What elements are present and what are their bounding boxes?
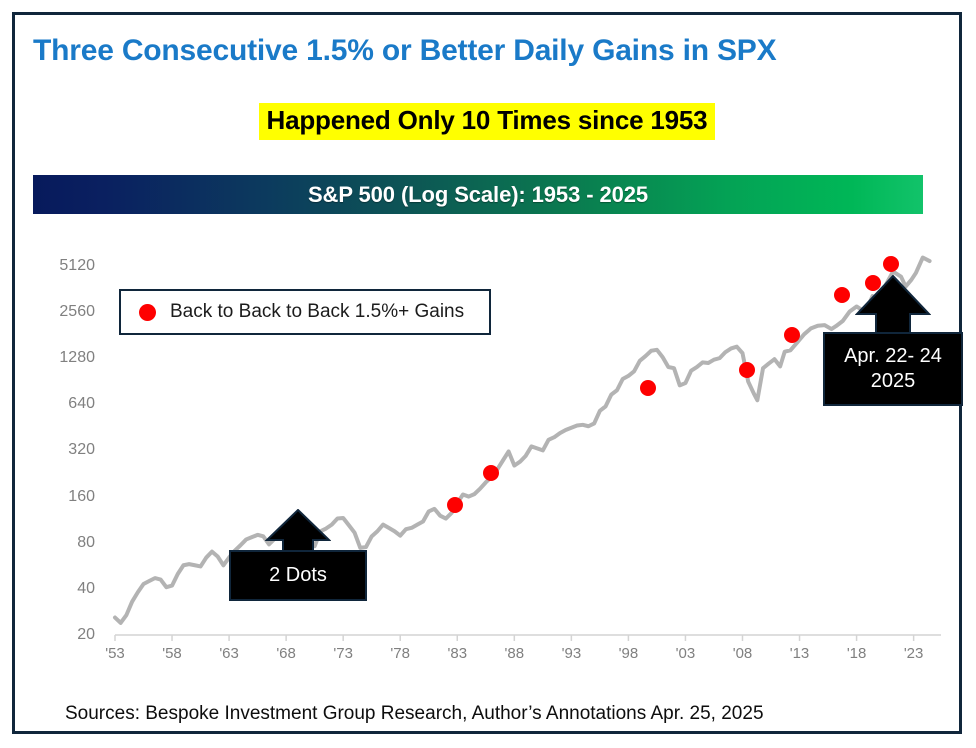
y-axis-tick-label: 640: [33, 395, 95, 413]
subtitle-highlight: Happened Only 10 Times since 1953: [259, 103, 716, 140]
highlight-point: [784, 327, 800, 343]
source-note: Sources: Bespoke Investment Group Resear…: [65, 703, 764, 725]
chart-banner-title: S&P 500 (Log Scale): 1953 - 2025: [33, 175, 923, 214]
y-axis-tick-label: 2560: [33, 303, 95, 321]
x-axis-tick-label: '03: [676, 645, 696, 662]
y-axis-tick-label: 160: [33, 488, 95, 506]
y-axis-tick-label: 1280: [33, 349, 95, 367]
x-axis-tick-label: '58: [162, 645, 182, 662]
callout-2-dots-box: 2 Dots: [229, 550, 367, 601]
callout-apr-2025-box: Apr. 22- 24 2025: [823, 332, 963, 406]
y-axis-tick-label: 20: [33, 626, 95, 644]
x-axis-tick-label: '63: [219, 645, 239, 662]
slide-container: Three Consecutive 1.5% or Better Daily G…: [12, 12, 962, 734]
highlight-point: [739, 362, 755, 378]
callout-apr-line2: 2025: [871, 369, 916, 394]
x-axis-tick-label: '18: [847, 645, 867, 662]
chart-axis-lines: [115, 635, 941, 641]
callout-apr-line1: Apr. 22- 24: [844, 344, 942, 369]
callout-2-dots: 2 Dots: [229, 509, 367, 601]
chart-legend: Back to Back to Back 1.5%+ Gains: [119, 289, 491, 335]
x-axis-tick-label: '08: [733, 645, 753, 662]
y-axis-tick-label: 5120: [33, 257, 95, 275]
x-axis-tick-label: '93: [562, 645, 582, 662]
callout-2-dots-line1: 2 Dots: [269, 563, 327, 588]
x-axis-tick-label: '68: [276, 645, 296, 662]
subtitle-wrapper: Happened Only 10 Times since 1953: [15, 103, 959, 140]
legend-label: Back to Back to Back 1.5%+ Gains: [170, 301, 464, 323]
x-axis-tick-label: '98: [619, 645, 639, 662]
highlight-point: [483, 465, 499, 481]
x-axis-tick-label: '23: [904, 645, 924, 662]
legend-marker-dot-icon: [139, 304, 156, 321]
y-axis-tick-label: 320: [33, 441, 95, 459]
highlight-point: [883, 256, 899, 272]
y-axis-tick-label: 40: [33, 580, 95, 598]
highlight-point: [640, 380, 656, 396]
y-axis-tick-label: 80: [33, 534, 95, 552]
callout-apr-2025: Apr. 22- 24 2025: [823, 275, 963, 406]
x-axis-tick-label: '88: [505, 645, 525, 662]
x-axis-tick-label: '78: [390, 645, 410, 662]
chart-plot-area: 512025601280640320160804020 '53'58'63'68…: [33, 227, 949, 659]
x-axis-tick-label: '53: [105, 645, 125, 662]
x-axis-tick-label: '83: [448, 645, 468, 662]
x-axis-tick-label: '13: [790, 645, 810, 662]
highlight-point: [447, 497, 463, 513]
x-axis-tick-label: '73: [333, 645, 353, 662]
page-title: Three Consecutive 1.5% or Better Daily G…: [33, 34, 943, 68]
